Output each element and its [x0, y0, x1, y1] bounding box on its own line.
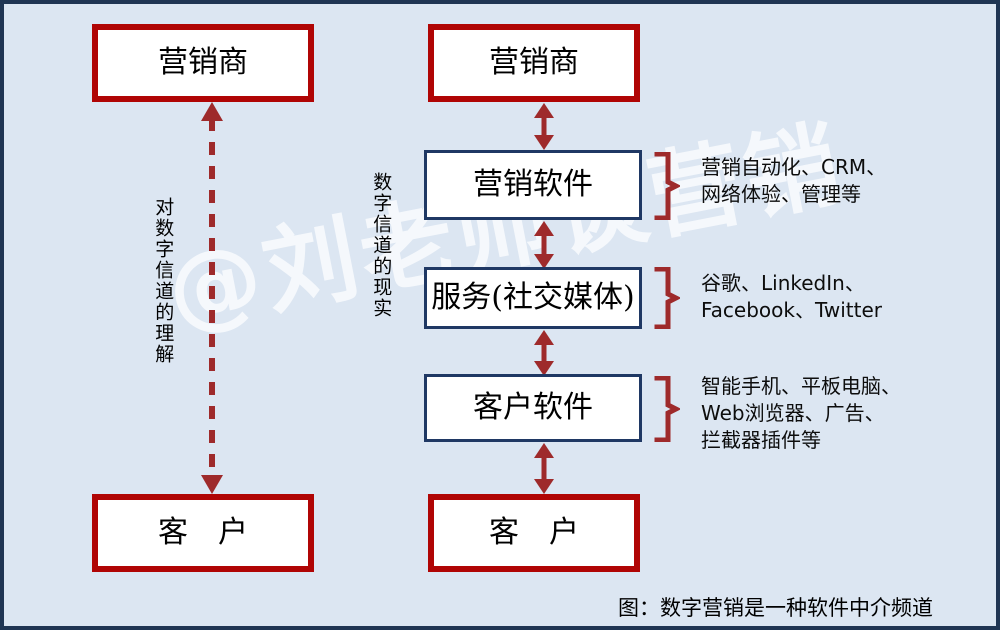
marketing-software-label: 营销软件: [473, 170, 593, 200]
annotation-client-software: 智能手机、平板电脑、 Web浏览器、广告、 拦截器插件等: [701, 373, 981, 453]
diagram-canvas: @刘老师谈营销 营销商 对数字信道的理解 客 户 数字信道的现实 营销商 营销软…: [0, 0, 1000, 630]
service-label: 服务(社交媒体): [431, 283, 634, 313]
left-marketer-label: 营销商: [158, 48, 248, 78]
annotation-marketing-software: 营销自动化、CRM、 网络体验、管理等: [701, 154, 971, 208]
right-vertical-label: 数字信道的现实: [370, 172, 391, 392]
right-customer-box: 客 户: [428, 494, 640, 572]
brace-client-software: [654, 376, 680, 442]
left-customer-label: 客 户: [158, 518, 248, 548]
marketing-software-box: 营销软件: [424, 150, 642, 220]
brace-marketing-software: [654, 152, 680, 220]
watermark-text: @刘老师谈营销: [154, 82, 893, 386]
connector-marketer-to-software: [524, 103, 564, 150]
client-software-box: 客户软件: [424, 374, 642, 442]
client-software-label: 客户软件: [473, 393, 593, 423]
left-marketer-box: 营销商: [92, 24, 314, 102]
service-box: 服务(社交媒体): [424, 267, 642, 329]
right-marketer-label: 营销商: [489, 48, 579, 78]
connector-software-to-service: [524, 221, 564, 269]
annotation-service: 谷歌、LinkedIn、 Facebook、Twitter: [701, 270, 971, 324]
left-dashed-connector: [192, 102, 232, 494]
right-customer-label: 客 户: [489, 518, 579, 548]
connector-service-to-client-software: [524, 330, 564, 376]
brace-service: [654, 267, 680, 329]
left-vertical-label: 对数字信道的理解: [152, 197, 173, 447]
connector-client-software-to-customer: [524, 443, 564, 494]
left-customer-box: 客 户: [92, 494, 314, 572]
right-marketer-box: 营销商: [428, 24, 640, 102]
figure-caption: 图：数字营销是一种软件中介频道: [618, 592, 933, 622]
